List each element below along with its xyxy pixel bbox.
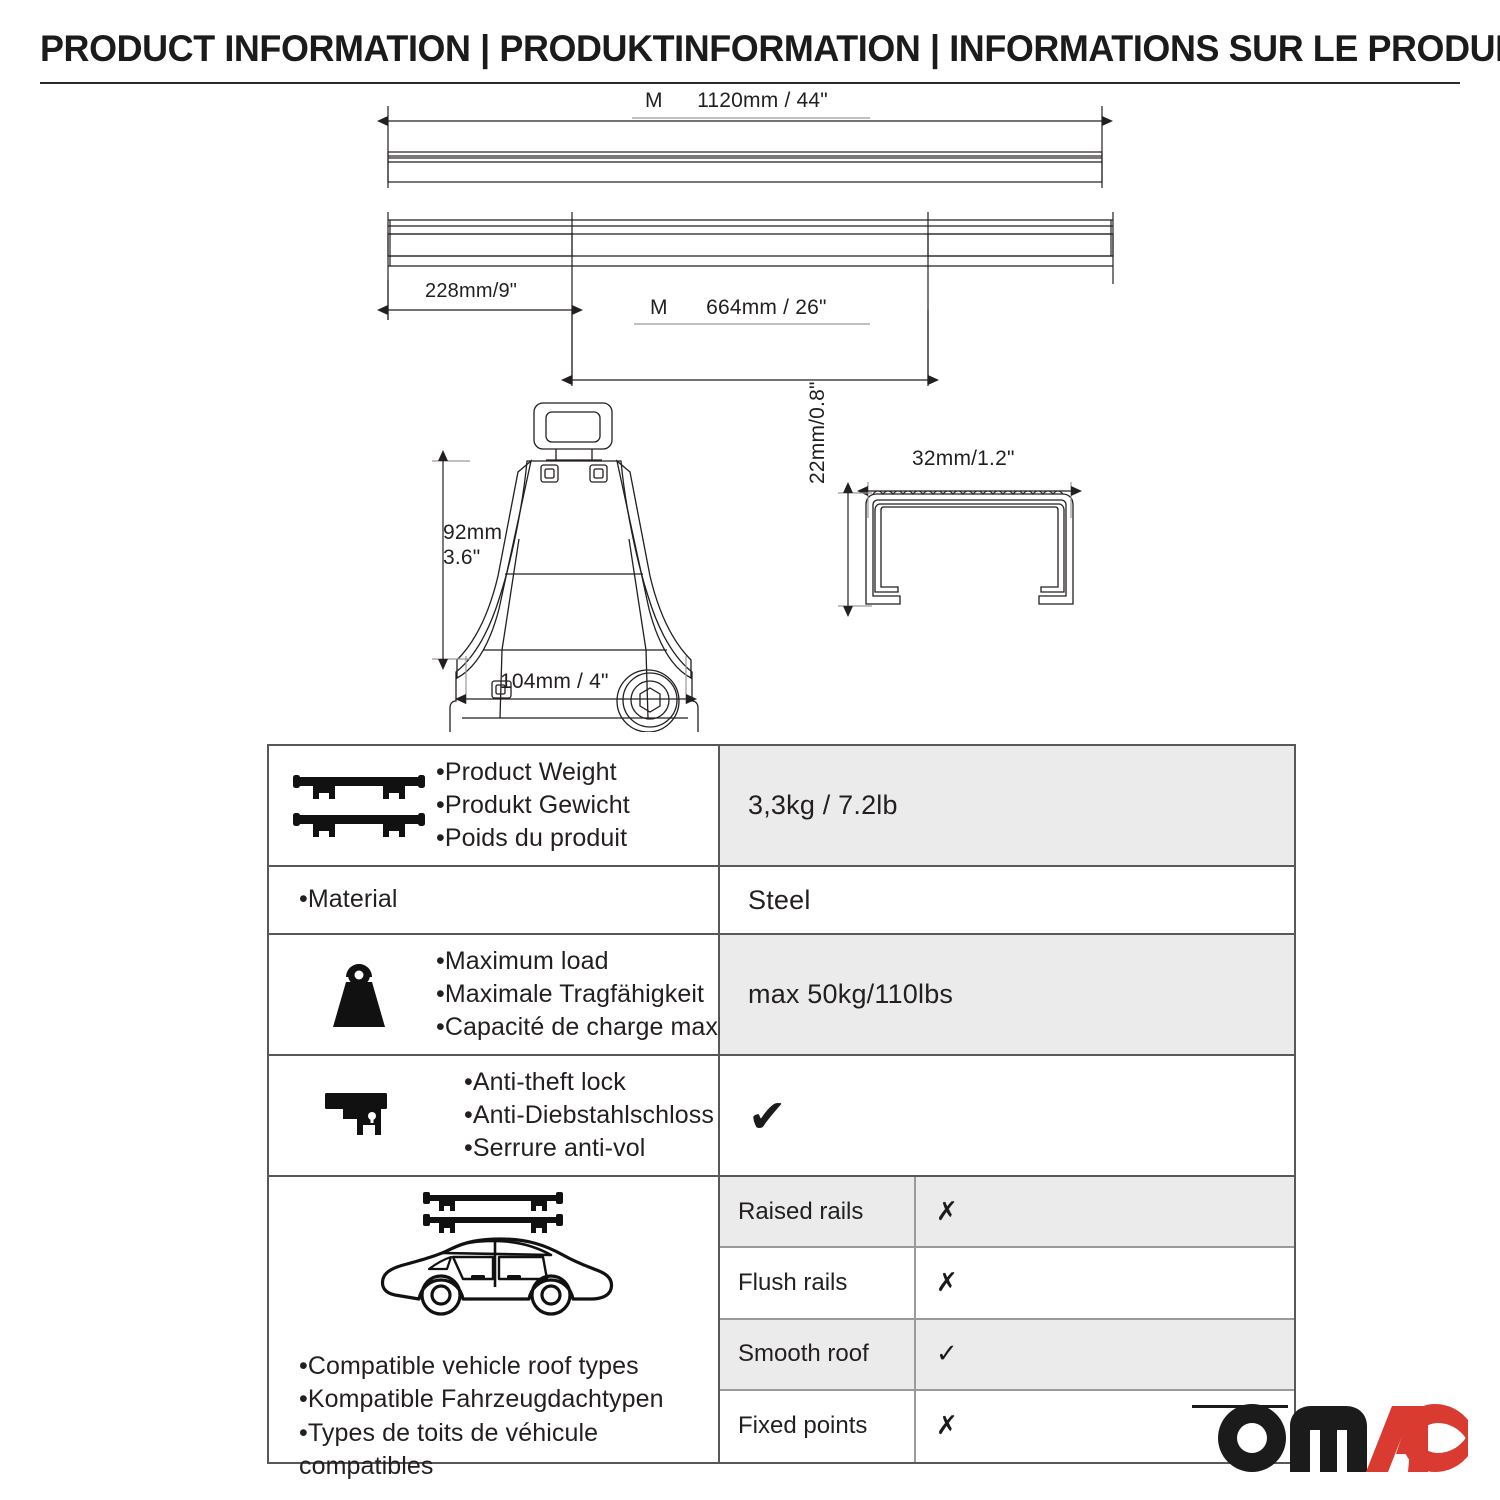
page-header: PRODUCT INFORMATION | PRODUKTINFORMATION…	[40, 28, 1460, 70]
label-text-group: •Material	[281, 883, 398, 916]
logo-wordmark	[1216, 1398, 1468, 1474]
table-row-material: •Material Steel	[269, 867, 1294, 935]
label-cell: •Anti-theft lock •Anti-Diebstahlschloss …	[269, 1056, 720, 1175]
crossbars-icon	[281, 769, 436, 843]
lock-icon	[281, 1083, 436, 1149]
table-row-anti-theft-lock: •Anti-theft lock •Anti-Diebstahlschloss …	[269, 1056, 1294, 1177]
technical-drawings: M 1120mm / 44" 228mm/9" M 664mm / 26" 92…	[0, 84, 1500, 732]
bar-length-dimension: M 1120mm / 44"	[645, 89, 828, 113]
specification-table: •Product Weight •Produkt Gewicht •Poids …	[267, 744, 1296, 1464]
roof-type-value: ✓	[916, 1320, 1294, 1389]
roof-type-row-flush-rails: Flush rails ✗	[720, 1248, 1294, 1319]
value-product-weight: 3,3kg / 7.2lb	[720, 746, 1294, 865]
table-row-product-weight: •Product Weight •Produkt Gewicht •Poids …	[269, 746, 1294, 867]
check-icon: ✔	[748, 1093, 787, 1139]
bar-spread-dimension: M 664mm / 26"	[650, 296, 827, 320]
roof-type-value: ✗	[916, 1248, 1294, 1317]
drawing-canvas	[0, 84, 1500, 732]
label-cell: •Material	[269, 867, 720, 933]
roof-type-subtable: Raised rails ✗ Flush rails ✗ Smooth roof…	[720, 1177, 1294, 1462]
value-maximum-load: max 50kg/110lbs	[720, 935, 1294, 1054]
foot-height-dimension: 92mm 3.6"	[443, 521, 502, 571]
label-text-group: •Compatible vehicle roof types •Kompatib…	[281, 1350, 712, 1483]
roof-type-value: ✗	[916, 1177, 1294, 1246]
label-cell: •Maximum load •Maximale Tragfähigkeit •C…	[269, 935, 720, 1054]
profile-width-dimension: 32mm/1.2"	[912, 447, 1015, 471]
foot-width-dimension: 104mm / 4"	[500, 670, 609, 694]
roof-type-row-fixed-points: Fixed points ✗	[720, 1391, 1294, 1462]
page-title: PRODUCT INFORMATION | PRODUKTINFORMATION…	[40, 28, 1417, 70]
label-cell: •Compatible vehicle roof types •Kompatib…	[269, 1177, 720, 1462]
end-offset-dimension: 228mm/9"	[425, 280, 517, 303]
car-with-rack-icon	[367, 1183, 627, 1338]
table-row-compatible-roof-types: •Compatible vehicle roof types •Kompatib…	[269, 1177, 1294, 1462]
profile-cross-section	[866, 491, 1073, 604]
table-row-maximum-load: •Maximum load •Maximale Tragfähigkeit •C…	[269, 935, 1294, 1056]
label-text-group: •Anti-theft lock •Anti-Diebstahlschloss …	[436, 1066, 714, 1166]
label-text-group: •Product Weight •Produkt Gewicht •Poids …	[436, 756, 630, 856]
omac-logo	[1216, 1398, 1468, 1474]
value-material: Steel	[720, 867, 1294, 933]
roof-type-row-raised-rails: Raised rails ✗	[720, 1177, 1294, 1248]
label-cell: •Product Weight •Produkt Gewicht •Poids …	[269, 746, 720, 865]
value-anti-theft-lock: ✔	[720, 1056, 1294, 1175]
weight-icon	[281, 956, 436, 1034]
profile-height-dimension: 22mm/0.8"	[806, 381, 830, 484]
roof-type-row-smooth-roof: Smooth roof ✓	[720, 1320, 1294, 1391]
